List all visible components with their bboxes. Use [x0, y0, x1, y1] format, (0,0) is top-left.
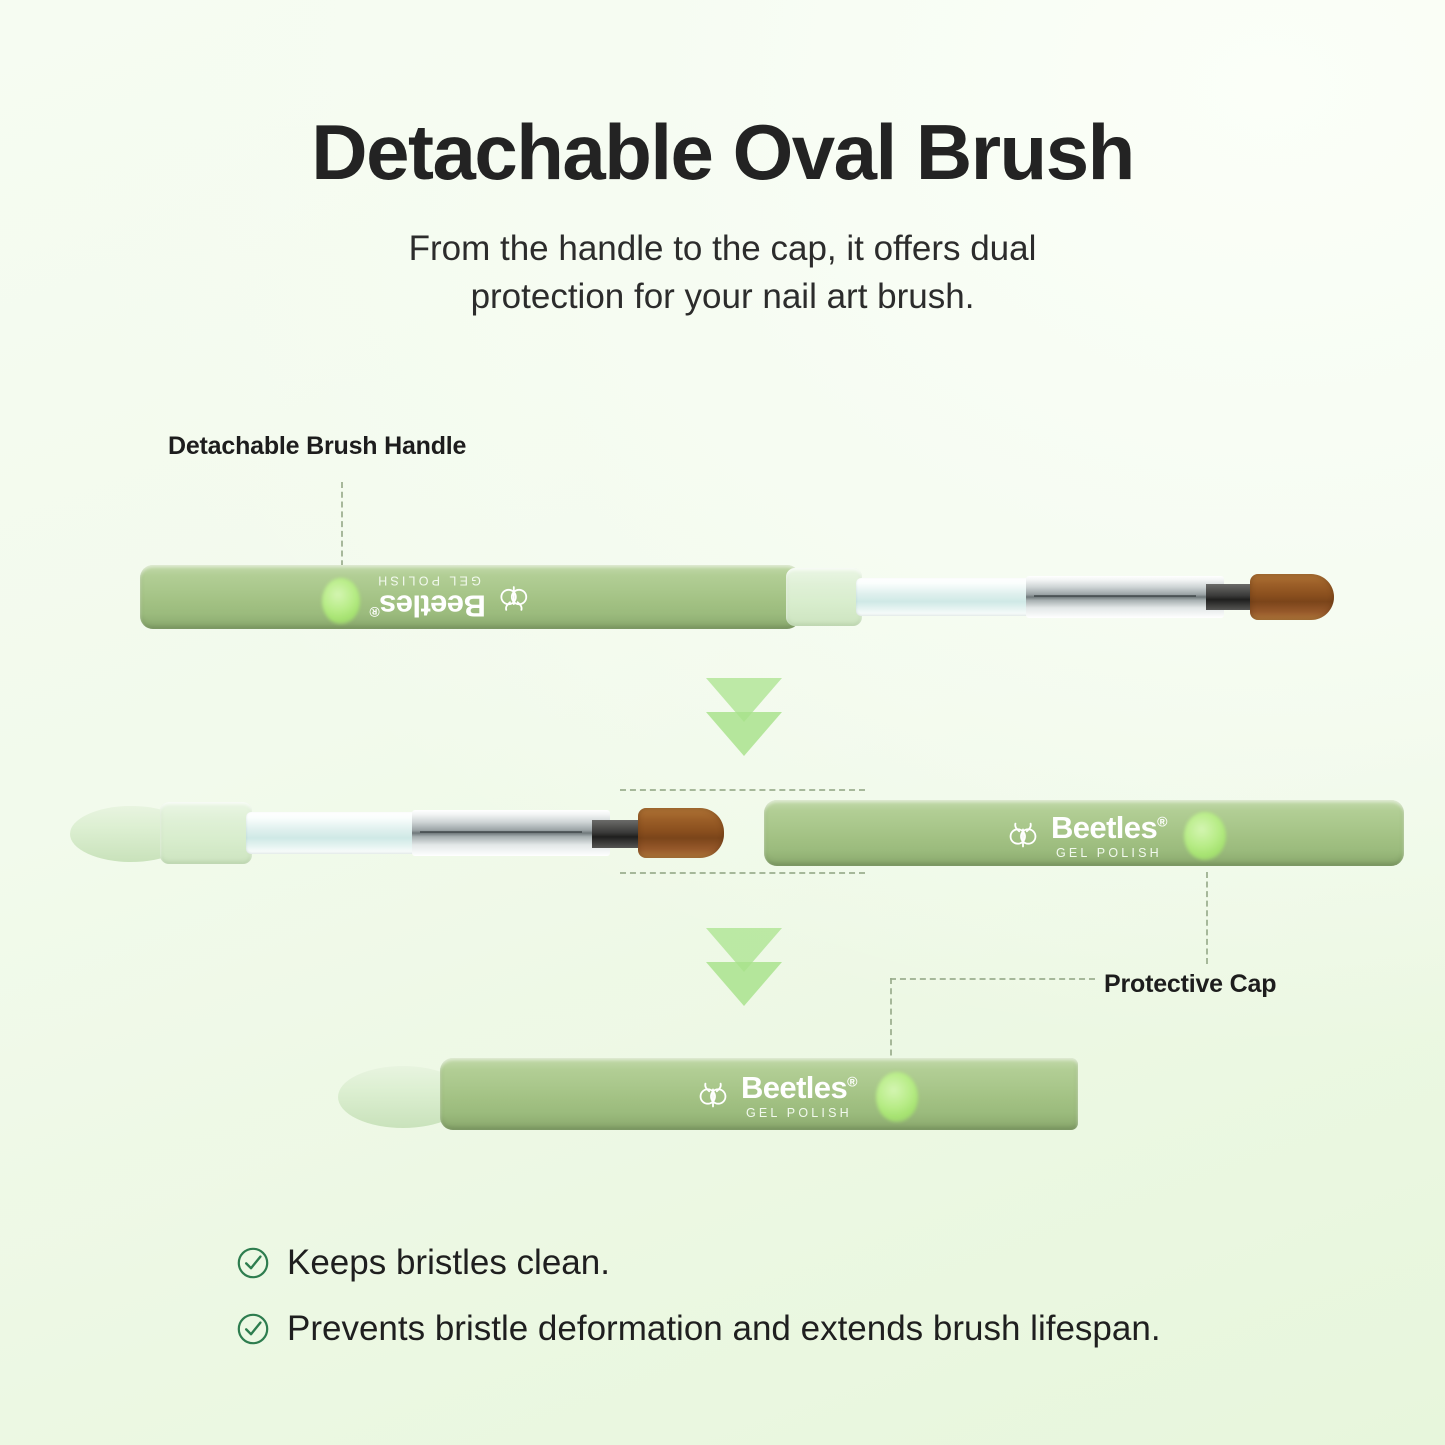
- infographic-canvas: Detachable Oval Brush From the handle to…: [0, 0, 1445, 1445]
- step-arrow-1: [706, 678, 782, 762]
- step-arrow-2: [706, 928, 782, 1012]
- page-subtitle: From the handle to the cap, it offers du…: [343, 225, 1103, 322]
- brush-rear-collar: [160, 802, 252, 864]
- handle-collar: [786, 568, 862, 626]
- brand-words: Beetles® GEL POLISH: [741, 1072, 857, 1120]
- beetle-icon: [1004, 817, 1042, 855]
- brush-mint-shaft-2: [246, 812, 418, 854]
- brand-lockup-handle: Beetles® GEL POLISH: [370, 574, 533, 622]
- benefit-item: Keeps bristles clean.: [236, 1243, 1161, 1283]
- brush-mint-shaft: [856, 578, 1032, 616]
- leader-line-cap-horizontal: [890, 978, 1095, 980]
- benefit-item: Prevents bristle deformation and extends…: [236, 1309, 1161, 1349]
- brand-tagline: GEL POLISH: [741, 1107, 857, 1120]
- brand-tagline: GEL POLISH: [370, 574, 486, 587]
- alignment-guide-top: [620, 789, 865, 791]
- handle-glow-highlight: [322, 578, 360, 624]
- brand-wordmark: Beetles®: [1051, 812, 1167, 843]
- brush-bristles: [1250, 574, 1334, 620]
- leader-line-cap-upper: [1206, 872, 1208, 964]
- leader-line-handle: [341, 482, 343, 576]
- brand-words: Beetles® GEL POLISH: [1051, 812, 1167, 860]
- alignment-guide-bottom: [620, 872, 865, 874]
- brand-words: Beetles® GEL POLISH: [370, 574, 486, 622]
- brand-tagline: GEL POLISH: [1051, 847, 1167, 860]
- benefit-text: Keeps bristles clean.: [287, 1243, 610, 1283]
- callout-label-detachable-brush-handle: Detachable Brush Handle: [168, 432, 466, 461]
- brush-bristles-2: [638, 808, 724, 858]
- check-circle-icon: [236, 1312, 270, 1346]
- brand-lockup-capped: Beetles® GEL POLISH: [694, 1072, 857, 1120]
- capped-glow-highlight: [876, 1072, 918, 1122]
- brand-wordmark: Beetles®: [370, 591, 486, 622]
- page-title: Detachable Oval Brush: [0, 112, 1445, 194]
- check-circle-icon: [236, 1246, 270, 1280]
- brush-ferrule-2: [412, 810, 610, 856]
- callout-label-protective-cap: Protective Cap: [1104, 970, 1276, 999]
- benefit-text: Prevents bristle deformation and extends…: [287, 1309, 1161, 1349]
- brush-ferrule: [1026, 576, 1224, 618]
- beetle-icon: [694, 1077, 732, 1115]
- beetle-icon: [495, 579, 533, 617]
- cap-glow-highlight: [1184, 812, 1226, 860]
- brand-lockup-cap: Beetles® GEL POLISH: [1004, 812, 1167, 860]
- brand-wordmark: Beetles®: [741, 1072, 857, 1103]
- benefits-list: Keeps bristles clean. Prevents bristle d…: [236, 1243, 1161, 1375]
